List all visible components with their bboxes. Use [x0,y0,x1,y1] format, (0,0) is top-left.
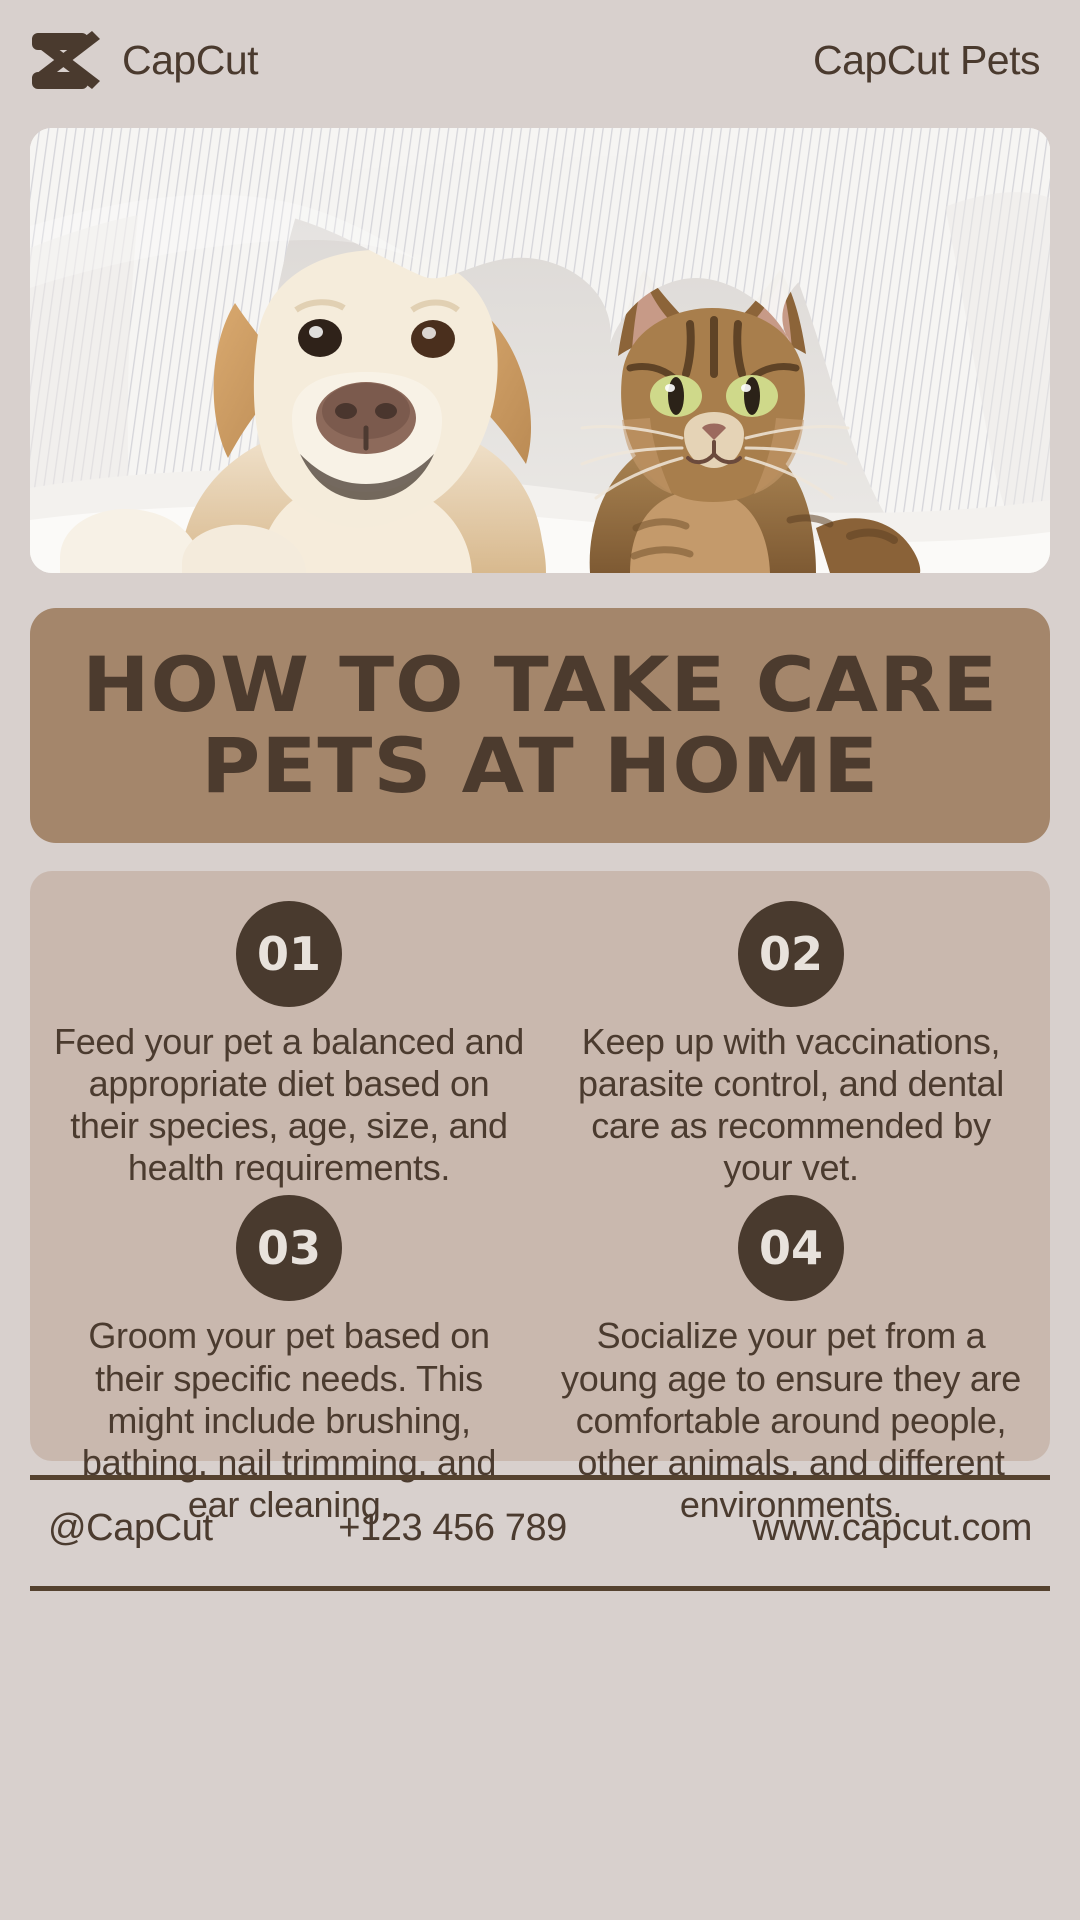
brand-lockup: CapCut [30,29,258,91]
step-number-badge: 03 [236,1195,342,1301]
phone-number: +123 456 789 [213,1507,753,1550]
step-description: Keep up with vaccinations, parasite cont… [554,1021,1028,1189]
step-number-badge: 01 [236,901,342,1007]
social-handle: @CapCut [48,1507,213,1550]
brand-name: CapCut [122,37,258,84]
page-title-line-1: HOW TO TAKE CARE [82,645,998,726]
header-right-label: CapCut Pets [813,37,1040,84]
footer-contact-row: @CapCut +123 456 789 www.capcut.com [30,1480,1050,1576]
step-item-01: 01 Feed your pet a balanced and appropri… [52,901,526,1189]
page-title: HOW TO TAKE CARE PETS AT HOME [82,645,998,806]
step-number-badge: 02 [738,901,844,1007]
steps-panel: 01 Feed your pet a balanced and appropri… [30,871,1050,1461]
header: CapCut CapCut Pets [0,0,1080,120]
hero-photo [30,128,1050,573]
footer-divider-bottom [30,1586,1050,1591]
step-description: Feed your pet a balanced and appropriate… [52,1021,526,1189]
footer: @CapCut +123 456 789 www.capcut.com [30,1461,1050,1920]
title-banner: HOW TO TAKE CARE PETS AT HOME [30,608,1050,843]
step-number-badge: 04 [738,1195,844,1301]
capcut-logo-icon [30,29,104,91]
step-item-02: 02 Keep up with vaccinations, parasite c… [554,901,1028,1189]
page-title-line-2: PETS AT HOME [82,726,998,807]
website-url: www.capcut.com [753,1507,1033,1550]
infographic-poster: CapCut CapCut Pets [0,0,1080,1920]
